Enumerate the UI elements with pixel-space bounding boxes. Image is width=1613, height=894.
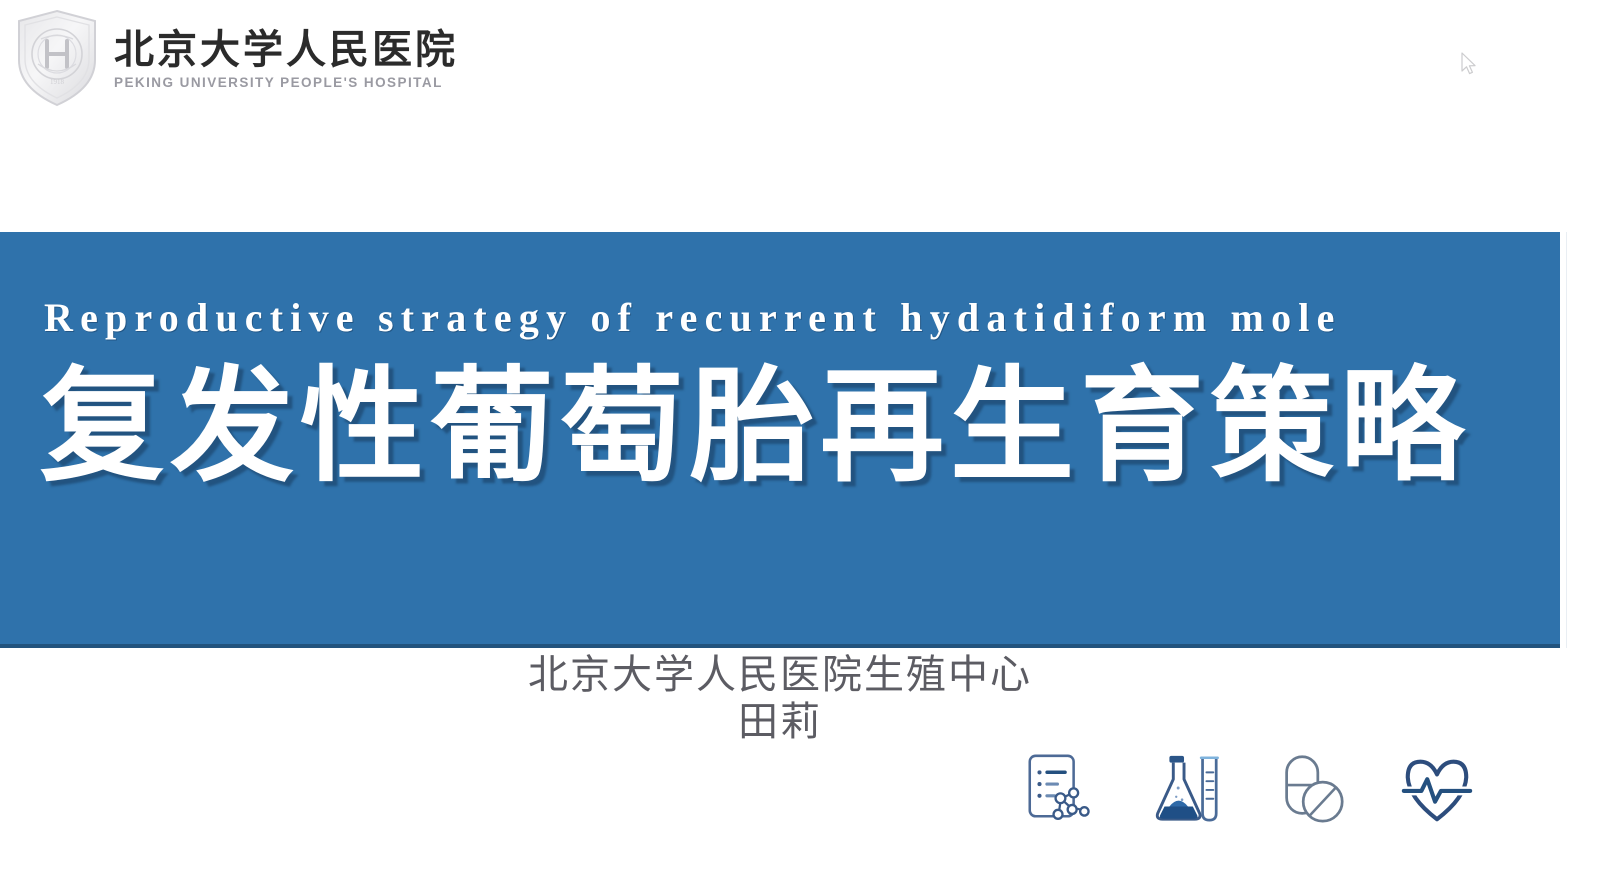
slide-title-english: Reproductive strategy of recurrent hydat… <box>44 294 1514 341</box>
presentation-slide: 1918 北京大学人民医院 PEKING UNIVERSITY PEOPLE'S… <box>0 0 1613 894</box>
pill-capsule-icon <box>1272 748 1350 828</box>
heart-pulse-icon <box>1398 748 1476 828</box>
hospital-crest-icon: 1918 <box>14 8 100 108</box>
hospital-name-cn: 北京大学人民医院 <box>114 29 458 71</box>
hospital-logo: 1918 北京大学人民医院 PEKING UNIVERSITY PEOPLE'S… <box>14 8 458 108</box>
slide-title-chinese: 复发性葡萄胎再生育策略 <box>40 364 1520 490</box>
presenter-affiliation: 北京大学人民医院生殖中心 <box>0 652 1560 699</box>
slide-right-margin <box>1560 0 1613 894</box>
slide-bottom-area <box>0 848 1613 894</box>
medical-icon-strip <box>1020 748 1476 828</box>
hospital-name-en: PEKING UNIVERSITY PEOPLE'S HOSPITAL <box>114 75 458 91</box>
presenter-name: 田莉 <box>0 699 1560 746</box>
hospital-wordmark: 北京大学人民医院 PEKING UNIVERSITY PEOPLE'S HOSP… <box>114 25 458 91</box>
slide-header: 1918 北京大学人民医院 PEKING UNIVERSITY PEOPLE'S… <box>0 0 1613 120</box>
header-divider-gap <box>0 120 1613 232</box>
title-banner: Reproductive strategy of recurrent hydat… <box>0 232 1560 648</box>
clipboard-molecule-icon <box>1020 748 1098 828</box>
flask-testtube-icon <box>1146 748 1224 828</box>
presenter-block: 北京大学人民医院生殖中心 田莉 <box>0 648 1560 746</box>
svg-text:1918: 1918 <box>50 78 65 86</box>
slide-right-edge-rule <box>1566 232 1567 648</box>
